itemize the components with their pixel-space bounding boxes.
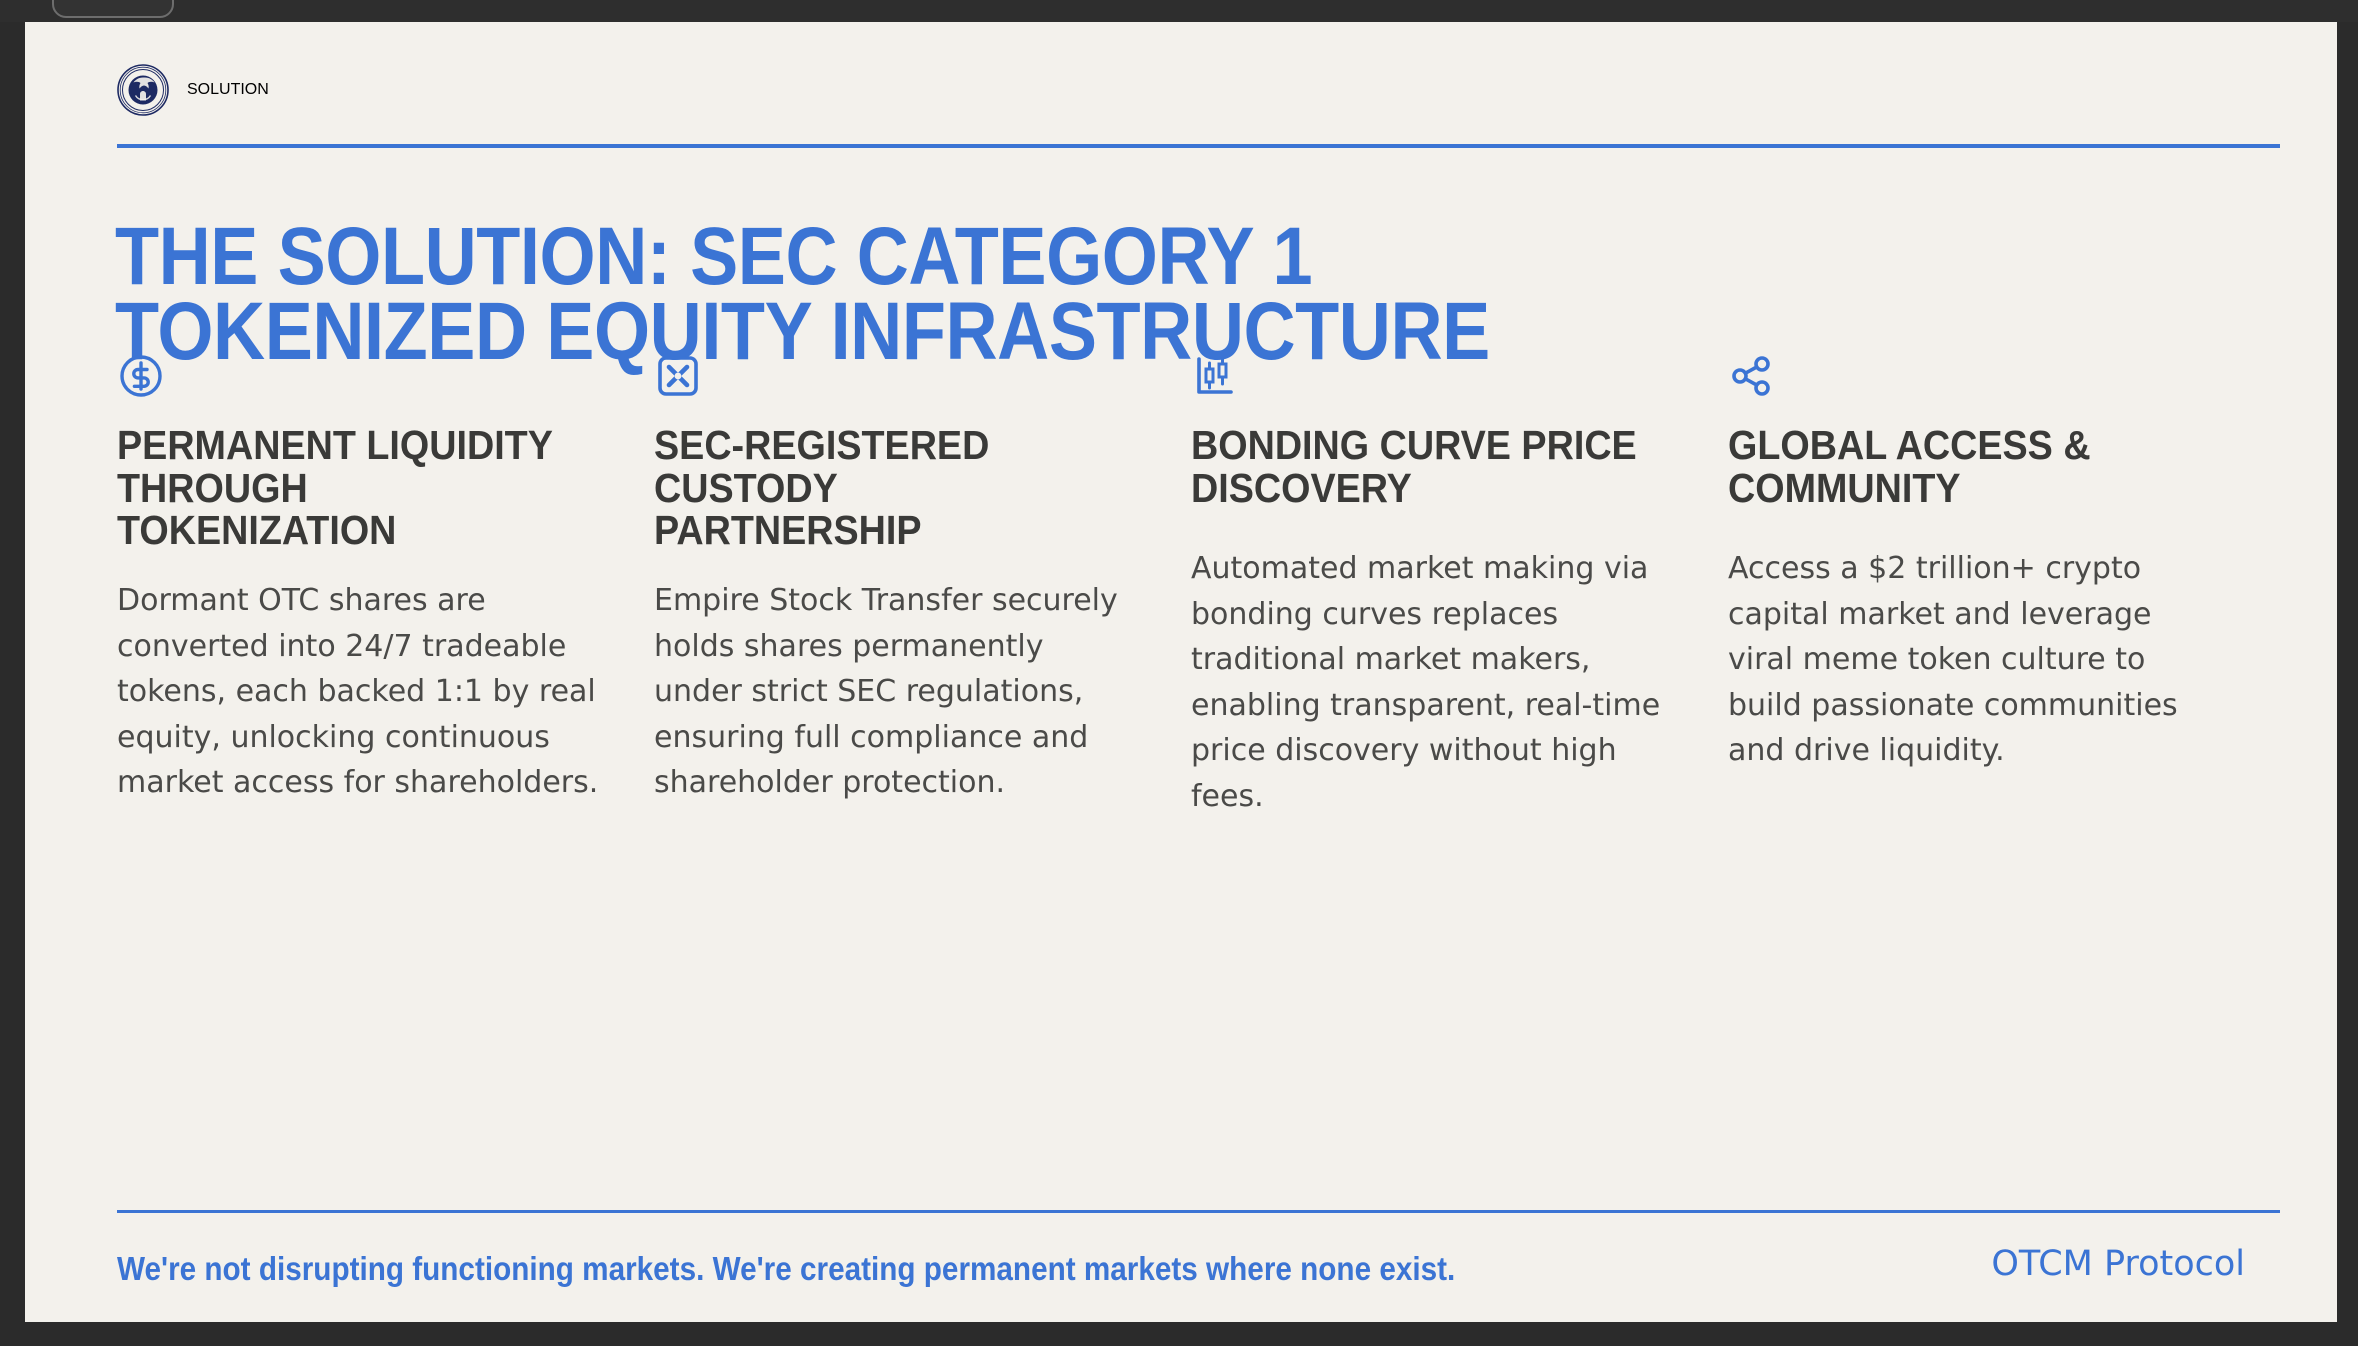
pillar-title: SEC-Registered Custody Partnership [654, 424, 1100, 552]
pillar-title: Global Access & Community [1728, 424, 2174, 520]
pillar-card: Bonding Curve Price Discovery Automated … [1191, 352, 1728, 820]
pillar-card: Permanent Liquidity Through Tokenization… [117, 352, 654, 820]
pillar-grid: Permanent Liquidity Through Tokenization… [117, 352, 2267, 820]
pillar-body: Access a $2 trillion+ crypto capital mar… [1728, 546, 2213, 774]
footer-tagline: We're not disrupting functioning markets… [117, 1250, 1455, 1288]
pillar-body: Automated market making via bonding curv… [1191, 546, 1676, 820]
eyebrow-label: SOLUTION [187, 81, 269, 99]
window-chrome-bar [0, 0, 2358, 22]
footer-divider [117, 1210, 2280, 1213]
pillar-card: Global Access & Community Access a $2 tr… [1728, 352, 2265, 820]
secure-vault-icon [654, 352, 1139, 410]
pillar-body: Empire Stock Transfer securely holds sha… [654, 578, 1139, 806]
page-title: The Solution: SEC Category 1 Tokenized E… [115, 219, 1664, 370]
otcm-protocol-seal-icon [117, 64, 169, 116]
application-frame: SOLUTION The Solution: SEC Category 1 To… [0, 0, 2358, 1346]
pillar-card: SEC-Registered Custody Partnership Empir… [654, 352, 1191, 820]
pillar-title: Bonding Curve Price Discovery [1191, 424, 1637, 520]
share-network-icon [1728, 352, 2213, 410]
dollar-circle-icon [117, 352, 602, 410]
pillar-title: Permanent Liquidity Through Tokenization [117, 424, 563, 552]
eyebrow: SOLUTION [117, 64, 269, 116]
footer-brand: OTCM Protocol [1991, 1244, 2245, 1284]
eyebrow-divider [117, 144, 2280, 148]
candlestick-chart-icon [1191, 352, 1676, 410]
pillar-body: Dormant OTC shares are converted into 24… [117, 578, 602, 806]
chrome-pill-button[interactable] [52, 0, 174, 18]
presentation-slide: SOLUTION The Solution: SEC Category 1 To… [25, 22, 2337, 1322]
